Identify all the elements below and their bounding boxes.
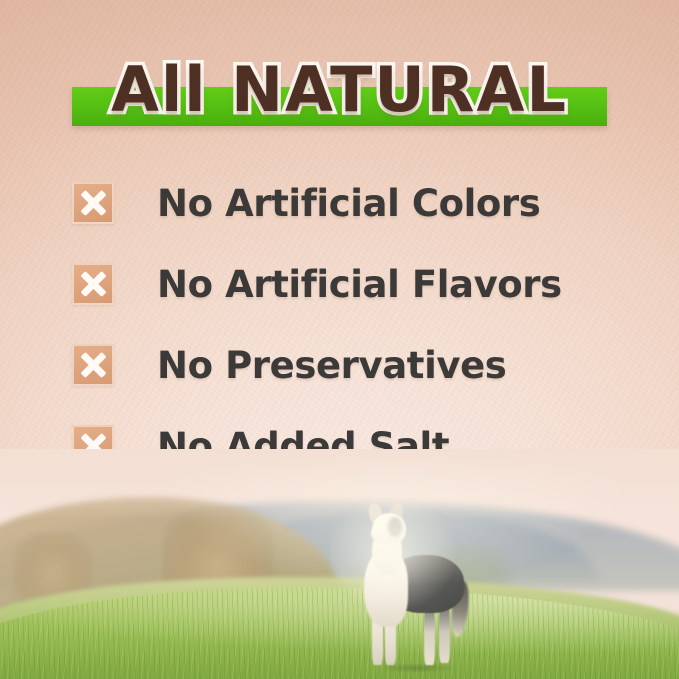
claim-row: No Preservatives	[72, 334, 632, 396]
landscape-photo	[0, 449, 679, 679]
headline-title: All NATURAL	[0, 44, 679, 136]
claim-label: No Artificial Flavors	[157, 263, 562, 306]
headline-block: All NATURAL	[0, 44, 679, 136]
product-feature-poster: All NATURAL No Artificial Colors No Arti…	[0, 0, 679, 679]
claim-label: No Preservatives	[157, 344, 506, 387]
claim-row: No Artificial Flavors	[72, 253, 632, 315]
claim-label: No Artificial Colors	[157, 182, 540, 225]
x-mark-icon	[72, 182, 114, 224]
claim-row: No Artificial Colors	[72, 172, 632, 234]
claims-list: No Artificial Colors No Artificial Flavo…	[72, 172, 632, 496]
dog-head-marking	[388, 517, 402, 537]
dog-snout	[371, 527, 386, 541]
x-mark-icon	[72, 344, 114, 386]
x-mark-icon	[72, 263, 114, 305]
dog-photo-subject	[352, 503, 478, 671]
